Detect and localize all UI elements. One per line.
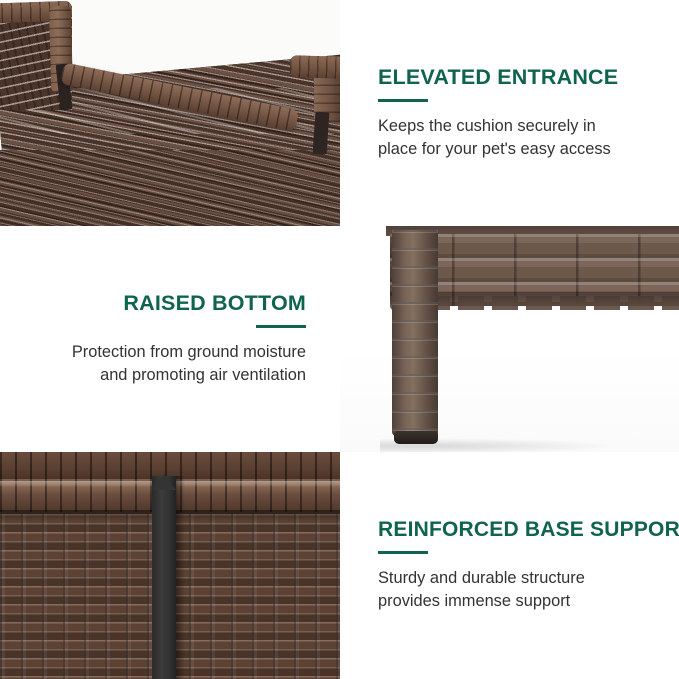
wicker-leg-highlights (392, 230, 438, 436)
feature-heading: REINFORCED BASE SUPPORT (378, 518, 679, 542)
feature-elevated-entrance: ELEVATED ENTRANCE Keeps the cushion secu… (340, 0, 679, 226)
heading-underline (378, 99, 428, 102)
photo-base-post-closeup (0, 452, 340, 679)
heading-underline (378, 551, 428, 554)
photo-top-rail-closeup (0, 0, 340, 226)
reinforcing-post-shadow (176, 476, 185, 679)
feature-heading: RAISED BOTTOM (123, 291, 306, 316)
wicker-photo-1 (0, 0, 340, 226)
feature-reinforced-base-support: REINFORCED BASE SUPPORT Sturdy and durab… (340, 452, 679, 679)
reinforcing-post (152, 476, 176, 679)
feature-body: Sturdy and durable structure provides im… (378, 567, 585, 614)
feature-body-line-1: Protection from ground moisture (72, 341, 306, 364)
feature-heading: ELEVATED ENTRANCE (378, 65, 618, 90)
feature-body-line-2: place for your pet's easy access (378, 138, 611, 161)
support-bracket-right (313, 112, 330, 155)
feature-body: Keeps the cushion securely in place for … (378, 115, 611, 162)
feature-body-line-2: provides immense support (378, 590, 585, 613)
feature-body-line-1: Sturdy and durable structure (378, 567, 585, 590)
feature-body-line-1: Keeps the cushion securely in (378, 115, 611, 138)
photo-raised-leg-closeup (340, 226, 679, 452)
feature-raised-bottom: RAISED BOTTOM Protection from ground moi… (0, 226, 340, 452)
heading-underline (256, 325, 306, 328)
feature-grid: ELEVATED ENTRANCE Keeps the cushion secu… (0, 0, 679, 679)
wicker-rail-right (290, 55, 340, 79)
reinforcing-post-tip (152, 474, 176, 490)
wicker-photo-2 (340, 226, 679, 452)
wicker-weave-lower (0, 150, 340, 226)
ground-shadow (380, 438, 620, 452)
wicker-photo-3 (0, 452, 340, 679)
feature-body: Protection from ground moisture and prom… (72, 341, 306, 388)
feature-body-line-2: and promoting air ventilation (72, 364, 306, 387)
